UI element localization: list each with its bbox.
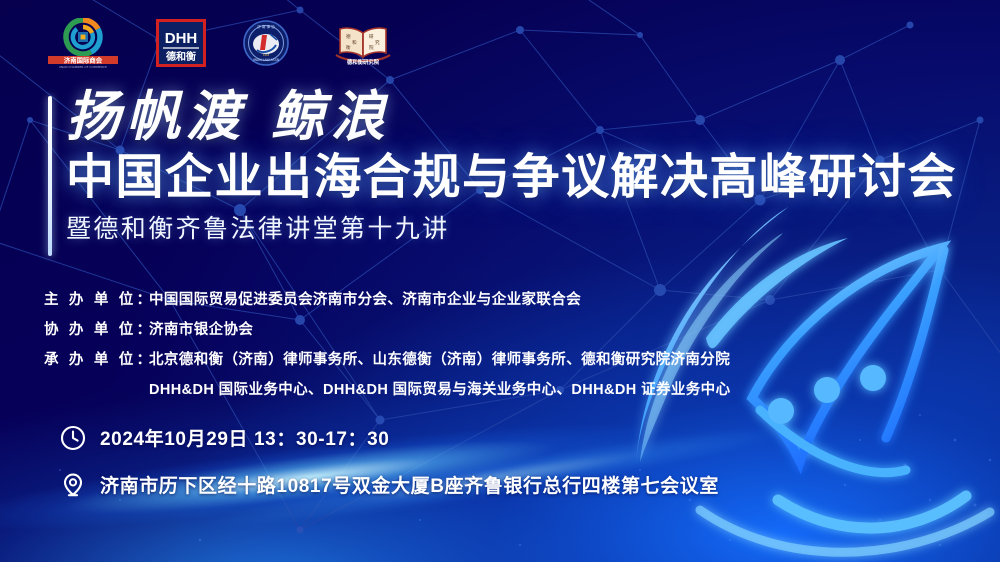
page-title: 中国企业出海合规与争议解决高峰研讨会 — [66, 151, 986, 205]
svg-text:1993: 1993 — [263, 53, 270, 57]
svg-text:德和衡: 德和衡 — [165, 50, 196, 63]
ccpit-jinan-logo: 济南国际商会 JINAN CHAMBER OF COMMERCE — [44, 18, 122, 68]
location-pin-icon — [60, 472, 86, 498]
dhh-logo: DHH 德和衡 — [156, 19, 206, 67]
organizer-label: 承 办 单 位： — [44, 348, 149, 369]
clock-icon — [60, 425, 86, 451]
svg-text:JINAN LAW ASSN: JINAN LAW ASSN — [252, 58, 280, 62]
event-location-text: 济南市历下区经十路10817号双金大厦B座齐鲁银行总行四楼第七会议室 — [100, 471, 719, 498]
svg-text:德和衡研究院: 德和衡研究院 — [347, 58, 380, 66]
organizer-label: 协 办 单 位： — [44, 318, 149, 339]
svg-text:济 南 律 协: 济 南 律 协 — [257, 24, 275, 29]
ccpit-jinan-logo-icon: 济南国际商会 JINAN CHAMBER OF COMMERCE — [44, 18, 122, 68]
svg-text:济南国际商会: 济南国际商会 — [64, 56, 103, 65]
jinan-lawyers-association-logo: 济 南 律 协 JINAN LAW ASSN 1993 — [240, 19, 292, 67]
svg-text:DHH: DHH — [165, 30, 198, 47]
dhh-institute-logo: 德和衡 研究院 德和衡研究院 — [326, 19, 400, 67]
svg-text:院: 院 — [369, 44, 374, 51]
organizer-value: 济南市银企协会 — [149, 318, 253, 339]
organizer-entry-undertaker: 承 办 单 位： 北京德和衡（济南）律师事务所、山东德衡（济南）律师事务所、德和… — [44, 348, 974, 399]
svg-text:究: 究 — [375, 39, 380, 46]
svg-text:研: 研 — [369, 34, 374, 40]
organizer-value-continued: DHH&DH 国际业务中心、DHH&DH 国际贸易与海关业务中心、DHH&DH … — [149, 378, 974, 399]
organizer-value: 中国国际贸易促进委员会济南市分会、济南市企业与企业家联合会 — [149, 288, 581, 309]
dhh-logo-icon: DHH 德和衡 — [156, 19, 206, 67]
page-subtitle: 暨德和衡齐鲁法律讲堂第十九讲 — [66, 214, 986, 244]
event-time-row: 2024年10月29日 13：30-17：30 — [60, 424, 719, 451]
svg-text:衡: 衡 — [346, 44, 351, 51]
event-location-row: 济南市历下区经十路10817号双金大厦B座齐鲁银行总行四楼第七会议室 — [60, 471, 719, 498]
sponsor-logo-row: 济南国际商会 JINAN CHAMBER OF COMMERCE DHH 德和衡 — [44, 18, 400, 68]
conference-poster: 济南国际商会 JINAN CHAMBER OF COMMERCE DHH 德和衡 — [0, 0, 1000, 562]
organizer-value: 北京德和衡（济南）律师事务所、山东德衡（济南）律师事务所、德和衡研究院济南分院 — [149, 348, 730, 369]
svg-text:德: 德 — [346, 33, 351, 40]
dhh-institute-logo-icon: 德和衡 研究院 德和衡研究院 — [326, 19, 400, 67]
organizer-entry-cohost: 协 办 单 位： 济南市银企协会 — [44, 318, 974, 339]
title-accent-bar — [48, 96, 52, 256]
calligraphy-title: 扬帆渡 鲸浪 — [66, 88, 986, 145]
event-time-text: 2024年10月29日 13：30-17：30 — [100, 424, 389, 451]
svg-text:JINAN CHAMBER OF COMMERCE: JINAN CHAMBER OF COMMERCE — [58, 65, 107, 68]
organizer-entry-host: 主 办 单 位： 中国国际贸易促进委员会济南市分会、济南市企业与企业家联合会 — [44, 288, 974, 309]
jinan-lawyers-association-logo-icon: 济 南 律 协 JINAN LAW ASSN 1993 — [240, 19, 292, 67]
event-meta-block: 2024年10月29日 13：30-17：30 济南市历下区经十路10817号双… — [60, 424, 719, 518]
svg-text:和: 和 — [352, 39, 357, 46]
organizer-label: 主 办 单 位： — [44, 288, 149, 309]
headline-block: 扬帆渡 鲸浪 中国企业出海合规与争议解决高峰研讨会 暨德和衡齐鲁法律讲堂第十九讲 — [66, 88, 986, 244]
organizer-block: 主 办 单 位： 中国国际贸易促进委员会济南市分会、济南市企业与企业家联合会 协… — [44, 288, 974, 399]
